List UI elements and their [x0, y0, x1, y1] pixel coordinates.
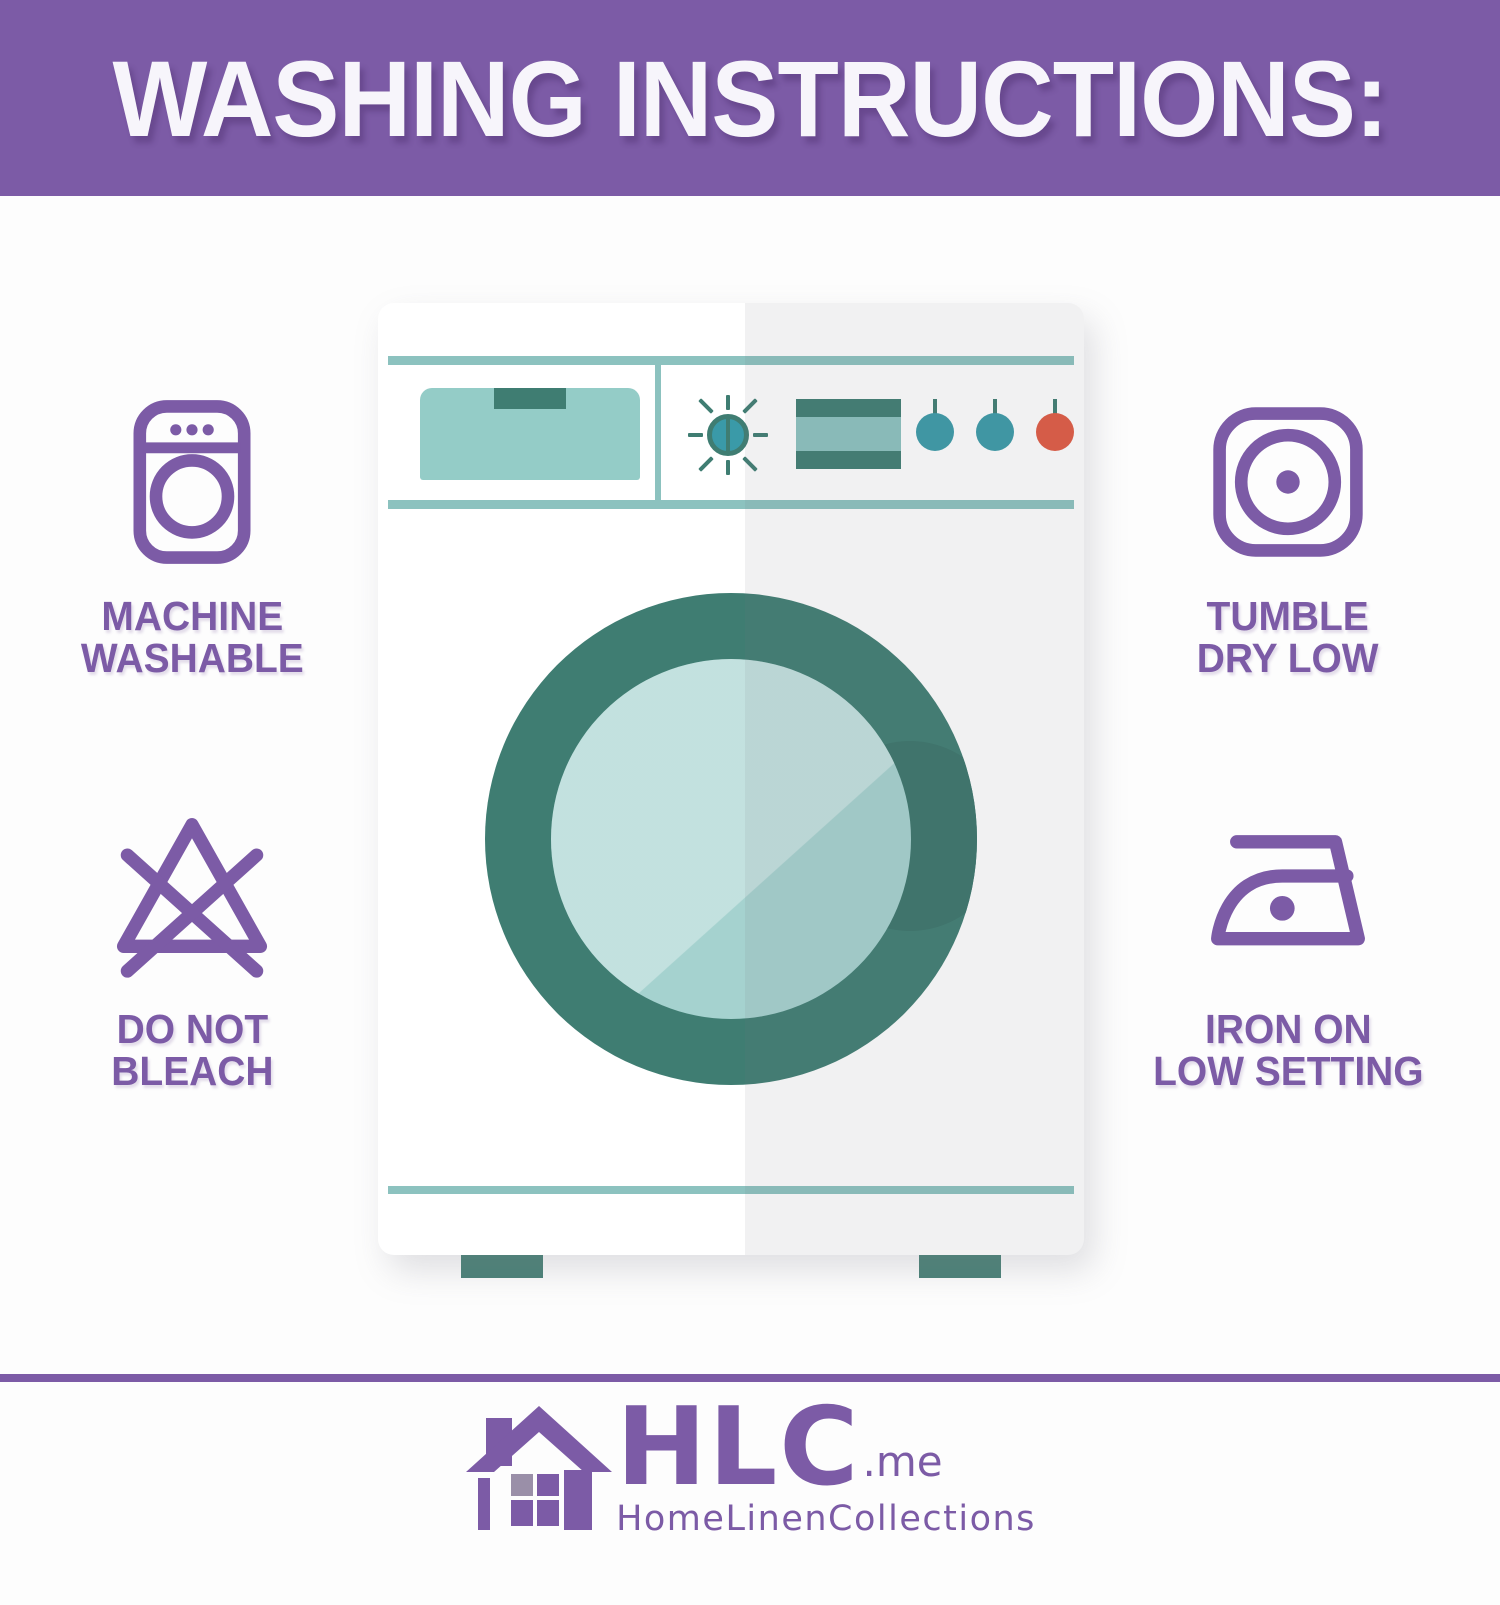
knob-dot: [976, 413, 1014, 451]
machine-door-window[interactable]: [485, 593, 977, 1085]
washing-machine-illustration: [378, 303, 1084, 1255]
machine-bottom-line: [388, 1186, 1074, 1194]
machine-body: [378, 303, 1084, 1255]
program-selector-dial[interactable]: [688, 395, 768, 475]
panel-top-line: [388, 356, 1074, 365]
control-knob-1[interactable]: [914, 399, 956, 455]
care-item-machine-washable: MACHINE WASHABLE: [22, 382, 362, 680]
washing-machine-icon: [92, 382, 292, 582]
care-item-label: TUMBLE DRY LOW: [1197, 596, 1379, 680]
house-logo-icon: [464, 1398, 614, 1543]
control-knob-3[interactable]: [1034, 399, 1076, 455]
door-glass: [551, 659, 911, 1019]
tumble-dry-icon: [1188, 382, 1388, 582]
logo-tagline: HomeLinenCollections: [616, 1499, 1036, 1539]
infographic-page: WASHING INSTRUCTIONS: MACHINE WASHABLE D…: [0, 0, 1500, 1605]
display-top-bar: [796, 399, 901, 417]
do-not-bleach-triangle-icon: [92, 795, 292, 995]
iron-icon: [1188, 795, 1388, 995]
care-item-label: DO NOT BLEACH: [111, 1009, 273, 1093]
knob-dot: [916, 413, 954, 451]
care-item-do-not-bleach: DO NOT BLEACH: [22, 795, 362, 1093]
display-screen: [796, 399, 901, 469]
care-item-iron-low-setting: IRON ON LOW SETTING: [1118, 795, 1458, 1093]
logo-domain-text: .me: [863, 1441, 943, 1483]
display-bottom-bar: [796, 451, 901, 469]
panel-divider: [655, 361, 661, 503]
knob-dot: [1036, 413, 1074, 451]
care-item-label: MACHINE WASHABLE: [81, 596, 304, 680]
page-title: WASHING INSTRUCTIONS:: [53, 0, 1448, 196]
footer-divider: [0, 1374, 1500, 1382]
drawer-handle: [494, 388, 566, 409]
footer-logo[interactable]: HLC .me HomeLinenCollections: [0, 1398, 1500, 1543]
door-glass-highlight: [551, 659, 911, 1019]
care-item-tumble-dry-low: TUMBLE DRY LOW: [1118, 382, 1458, 680]
logo-brand-text: HLC: [616, 1398, 860, 1497]
panel-bottom-line: [388, 500, 1074, 509]
care-item-label: IRON ON LOW SETTING: [1153, 1009, 1423, 1093]
detergent-drawer[interactable]: [420, 388, 640, 480]
header-banner: WASHING INSTRUCTIONS:: [0, 0, 1500, 196]
control-knob-2[interactable]: [974, 399, 1016, 455]
